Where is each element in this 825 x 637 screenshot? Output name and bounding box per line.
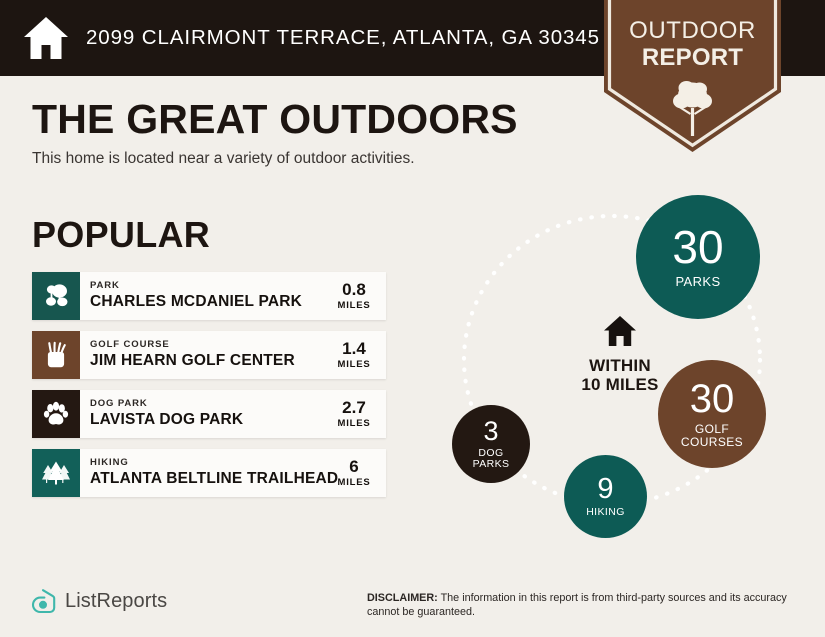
- row-distance-value: 1.4: [342, 340, 366, 357]
- row-text: DOG PARK LAVISTA DOG PARK: [80, 390, 330, 438]
- bubble-parks[interactable]: 30 PARKS: [636, 195, 760, 319]
- row-icon-box: [32, 390, 80, 438]
- bubble-parks-value: 30: [672, 224, 723, 270]
- bubble-golf-label: GOLF COURSES: [681, 423, 743, 449]
- row-distance: 1.4 MILES: [330, 331, 386, 379]
- row-icon-box: [32, 449, 80, 497]
- within-10-miles-diagram: WITHIN 10 MILES 30 PARKS 30 GOLF COURSES…: [415, 170, 825, 555]
- bubble-dog-label-line-2: PARKS: [473, 459, 510, 470]
- row-category: HIKING: [90, 458, 330, 468]
- bubble-golf-value: 30: [690, 379, 735, 419]
- list-item[interactable]: PARK CHARLES MCDANIEL PARK 0.8 MILES: [32, 272, 386, 320]
- bubble-parks-label: PARKS: [675, 275, 720, 289]
- row-category: DOG PARK: [90, 399, 330, 409]
- property-address: 2099 CLAIRMONT TERRACE, ATLANTA, GA 3034…: [86, 26, 600, 50]
- row-text: GOLF COURSE JIM HEARN GOLF CENTER: [80, 331, 330, 379]
- row-icon-box: [32, 272, 80, 320]
- listreports-logo-text: ListReports: [65, 590, 167, 613]
- bubble-hiking-value: 9: [597, 475, 613, 504]
- outdoor-report-badge: OUTDOOR REPORT: [604, 0, 781, 152]
- row-category: PARK: [90, 281, 330, 291]
- park-trees-icon: [42, 282, 70, 310]
- row-distance-unit: MILES: [337, 300, 370, 311]
- row-category: GOLF COURSE: [90, 340, 330, 350]
- home-icon: [22, 15, 70, 61]
- golf-bag-icon: [43, 341, 69, 369]
- bubble-dog-label: DOG PARKS: [473, 448, 510, 471]
- row-distance-value: 0.8: [342, 281, 366, 298]
- row-icon-box: [32, 331, 80, 379]
- list-item[interactable]: GOLF COURSE JIM HEARN GOLF CENTER 1.4 MI…: [32, 331, 386, 379]
- outdoor-report-page: 2099 CLAIRMONT TERRACE, ATLANTA, GA 3034…: [0, 0, 825, 637]
- center-line-2: 10 MILES: [581, 375, 658, 394]
- bubble-golf-label-line-2: COURSES: [681, 436, 743, 449]
- paw-print-icon: [42, 400, 70, 428]
- row-text: PARK CHARLES MCDANIEL PARK: [80, 272, 330, 320]
- row-name: LAVISTA DOG PARK: [90, 411, 330, 429]
- row-name: CHARLES MCDANIEL PARK: [90, 293, 330, 311]
- row-text: HIKING ATLANTA BELTLINE TRAILHEAD: [80, 449, 330, 497]
- page-title: THE GREAT OUTDOORS: [32, 96, 518, 143]
- row-name: ATLANTA BELTLINE TRAILHEAD: [90, 470, 330, 488]
- listreports-house-icon: [30, 588, 56, 614]
- home-icon: [603, 315, 637, 347]
- disclaimer: DISCLAIMER: The information in this repo…: [367, 591, 797, 620]
- list-item[interactable]: DOG PARK LAVISTA DOG PARK 2.7 MILES: [32, 390, 386, 438]
- popular-heading: POPULAR: [32, 214, 210, 256]
- row-distance-unit: MILES: [337, 477, 370, 488]
- bubble-hiking[interactable]: 9 HIKING: [564, 455, 647, 538]
- row-distance-unit: MILES: [337, 418, 370, 429]
- row-distance: 2.7 MILES: [330, 390, 386, 438]
- popular-places-list: PARK CHARLES MCDANIEL PARK 0.8 MILES GOL…: [32, 272, 386, 508]
- bubble-dog-parks[interactable]: 3 DOG PARKS: [452, 405, 530, 483]
- row-distance: 0.8 MILES: [330, 272, 386, 320]
- listreports-logo[interactable]: ListReports: [30, 588, 167, 614]
- row-distance-unit: MILES: [337, 359, 370, 370]
- row-distance-value: 2.7: [342, 399, 366, 416]
- bubble-dog-value: 3: [483, 418, 498, 445]
- row-name: JIM HEARN GOLF CENTER: [90, 352, 330, 370]
- page-subtitle: This home is located near a variety of o…: [32, 150, 415, 168]
- diagram-center-text: WITHIN 10 MILES: [581, 356, 658, 394]
- center-line-1: WITHIN: [581, 356, 658, 375]
- pine-trees-icon: [41, 459, 71, 487]
- row-distance: 6 MILES: [330, 449, 386, 497]
- bubble-hiking-label: HIKING: [586, 507, 625, 518]
- bubble-golf-courses[interactable]: 30 GOLF COURSES: [658, 360, 766, 468]
- row-distance-value: 6: [349, 458, 358, 475]
- disclaimer-label: DISCLAIMER:: [367, 592, 438, 604]
- badge-shape: [604, 0, 781, 152]
- list-item[interactable]: HIKING ATLANTA BELTLINE TRAILHEAD 6 MILE…: [32, 449, 386, 497]
